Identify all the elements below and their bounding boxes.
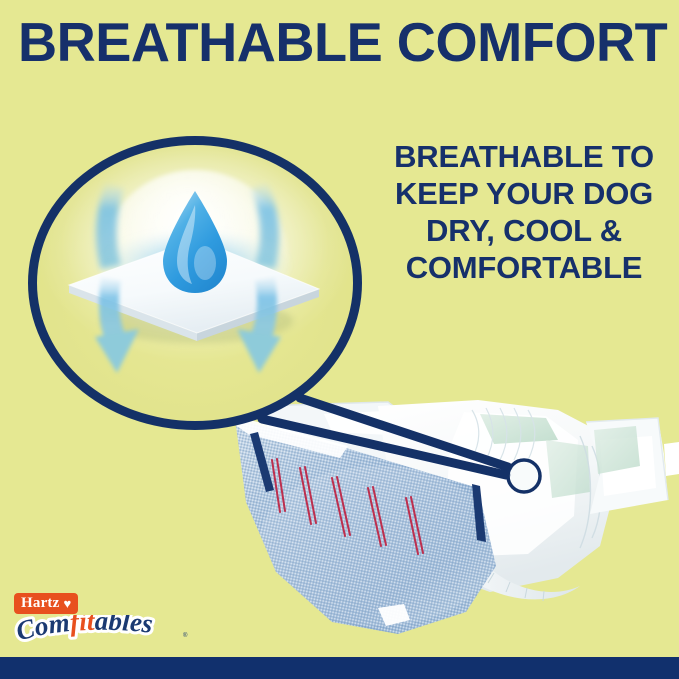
brand-logo: Hartz ♥ Comfitables Comfitables ®: [12, 593, 192, 649]
tagline-line-2: KEEP YOUR DOG: [378, 175, 670, 212]
comfitables-part-1: Com: [13, 615, 72, 646]
tagline-line-1: BREATHABLE TO: [378, 138, 670, 175]
hartz-badge: Hartz ♥: [14, 593, 78, 614]
water-droplet-icon: [163, 191, 227, 293]
magnifier-circle: [28, 136, 362, 430]
registered-mark: ®: [183, 632, 188, 639]
comfitables-fill: Comfitables: [13, 615, 155, 646]
tagline-line-4: COMFORTABLE: [378, 249, 670, 286]
page-title: BREATHABLE COMFORT: [18, 13, 654, 71]
hartz-wordmark: Hartz: [21, 595, 59, 611]
tagline-line-3: DRY, COOL &: [378, 212, 670, 249]
tagline-block: BREATHABLE TO KEEP YOUR DOG DRY, COOL & …: [378, 138, 670, 286]
magnifier-lens: [28, 136, 368, 436]
comfitables-part-2: fit: [69, 615, 96, 637]
comfitables-part-3: ables: [95, 615, 155, 639]
heart-icon: ♥: [63, 597, 71, 610]
footer-bar: [0, 657, 679, 679]
breathable-fabric-illustration: [37, 145, 353, 421]
advertisement-canvas: BREATHABLE COMFORT BREATHABLE TO KEEP YO…: [0, 0, 679, 679]
diaper-fastening-tab: [586, 418, 679, 514]
comfitables-wordmark: Comfitables Comfitables ®: [12, 615, 190, 649]
